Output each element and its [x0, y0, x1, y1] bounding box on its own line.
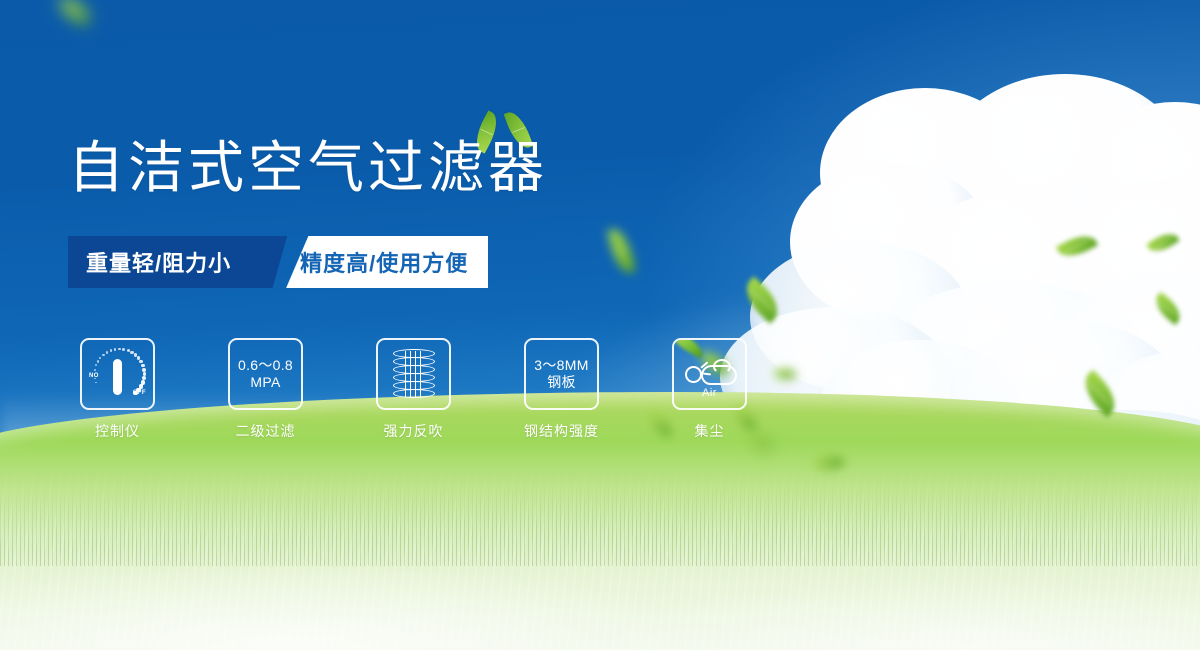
feature-icon-box: 3～8MM 钢板 — [524, 338, 599, 410]
feature-item-control[interactable]: NO OFF 控制仪 — [80, 338, 155, 441]
feature-list: NO OFF 控制仪 0.6～0.8 MPA 二级过滤 — [80, 338, 747, 441]
pressure-range-text: 0.6～0.8 — [238, 357, 293, 375]
pressure-unit-text: MPA — [250, 374, 280, 392]
feature-icon-box: 0.6～0.8 MPA — [228, 338, 303, 410]
banner-content: 自洁式空气过滤器 重量轻/阻力小 精度高/使用方便 NO OFF 控制仪 — [0, 0, 1200, 650]
feature-icon-box: Air — [672, 338, 747, 410]
sun-icon — [685, 366, 702, 383]
feature-label: 集尘 — [672, 421, 747, 441]
gauge-dial-icon: NO OFF — [82, 340, 153, 408]
product-banner: 自洁式空气过滤器 重量轻/阻力小 精度高/使用方便 NO OFF 控制仪 — [0, 0, 1200, 650]
feature-icon-box: NO OFF — [80, 338, 155, 410]
feature-label: 控制仪 — [80, 421, 155, 441]
subtitle-divider — [261, 236, 287, 288]
feature-label: 二级过滤 — [228, 421, 303, 441]
air-cloud-icon — [683, 355, 737, 385]
feature-item-dust[interactable]: Air 集尘 — [672, 338, 747, 441]
page-title: 自洁式空气过滤器 — [68, 140, 548, 196]
cloud-body-icon — [701, 365, 737, 385]
feature-item-filtration[interactable]: 0.6～0.8 MPA 二级过滤 — [228, 338, 303, 441]
feature-label: 钢结构强度 — [524, 421, 599, 441]
gauge-needle — [113, 359, 122, 395]
feature-item-backblow[interactable]: 强力反吹 — [376, 338, 451, 441]
subtitle-bar: 重量轻/阻力小 精度高/使用方便 — [68, 236, 488, 288]
feature-icon-box — [376, 338, 451, 410]
feature-label: 强力反吹 — [376, 421, 451, 441]
subtitle-right: 精度高/使用方便 — [286, 236, 488, 288]
steel-material-text: 钢板 — [547, 374, 576, 392]
feature-item-steel[interactable]: 3～8MM 钢板 钢结构强度 — [524, 338, 599, 441]
steel-thickness-text: 3～8MM — [534, 357, 588, 375]
filter-coil-icon — [393, 349, 435, 399]
air-text: Air — [674, 387, 745, 399]
subtitle-left: 重量轻/阻力小 — [68, 236, 261, 288]
